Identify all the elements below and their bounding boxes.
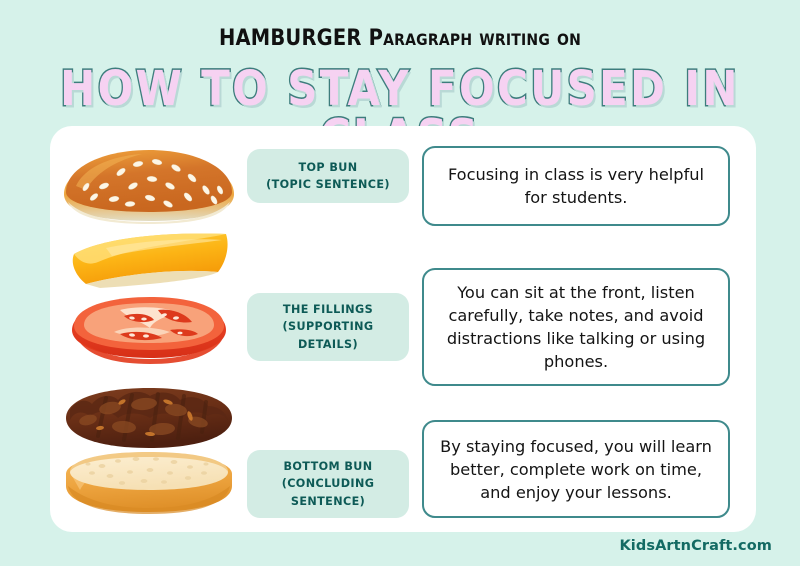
label-top-bun-line1: TOP BUN — [266, 159, 390, 176]
sentence-box-concluding: By staying focused, you will learn bette… — [422, 420, 730, 518]
tomato-slice-icon — [58, 288, 240, 370]
label-top-bun: TOP BUN (TOPIC SENTENCE) — [247, 149, 409, 203]
hamburger-stack — [58, 128, 240, 530]
label-fillings-line3: DETAILS) — [282, 336, 373, 353]
beef-patty-icon — [58, 382, 240, 454]
label-bottom-bun-line3: SENTENCE) — [282, 493, 375, 510]
bottom-bun-icon — [58, 446, 240, 522]
label-bottom-bun-line1: BOTTOM BUN — [282, 458, 375, 475]
header: HAMBURGER Paragraph writing on HOW TO ST… — [0, 0, 800, 147]
page-subtitle: HAMBURGER Paragraph writing on — [0, 27, 800, 49]
label-bottom-bun-line2: (CONCLUDING — [282, 475, 375, 492]
sentence-box-supporting: You can sit at the front, listen careful… — [422, 268, 730, 386]
cheese-slice-icon — [58, 228, 240, 290]
label-fillings: THE FILLINGS (SUPPORTING DETAILS) — [247, 293, 409, 361]
label-fillings-line2: (SUPPORTING — [282, 318, 373, 335]
label-fillings-line1: THE FILLINGS — [282, 301, 373, 318]
label-top-bun-line2: (TOPIC SENTENCE) — [266, 176, 390, 193]
top-bun-sesame-icon — [58, 142, 240, 232]
label-bottom-bun: BOTTOM BUN (CONCLUDING SENTENCE) — [247, 450, 409, 518]
sentence-box-topic: Focusing in class is very helpful for st… — [422, 146, 730, 226]
brand-watermark: KidsArtnCraft.com — [619, 538, 772, 554]
